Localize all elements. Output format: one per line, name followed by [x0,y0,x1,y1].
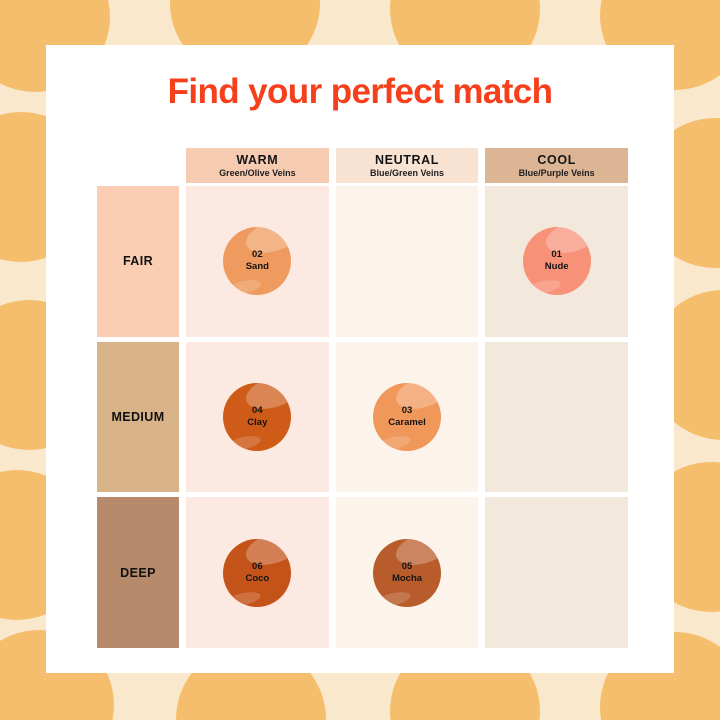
matrix-row-fair: FAIR02Sand01Nude [97,186,628,337]
content-card: Find your perfect match WARMGreen/Olive … [46,45,674,673]
column-header-cool[interactable]: COOLBlue/Purple Veins [485,148,628,183]
shade-name: Caramel [388,417,426,429]
shade-code: 02 [252,249,263,261]
matrix-cell-medium-neutral[interactable]: 03Caramel [336,342,479,493]
column-header-subtitle: Blue/Purple Veins [519,168,595,178]
column-header-title: WARM [236,153,278,167]
column-header-title: NEUTRAL [375,153,439,167]
shade-name: Mocha [392,573,422,585]
matrix-cell-fair-warm[interactable]: 02Sand [186,186,329,337]
page-title: Find your perfect match [46,72,674,112]
shade-code: 01 [551,249,562,261]
shade-swatch-mocha[interactable]: 05Mocha [373,539,441,607]
shade-name: Sand [246,261,269,273]
matrix-row-deep: DEEP06Coco05Mocha [97,497,628,648]
matrix-cell-deep-warm[interactable]: 06Coco [186,497,329,648]
matrix-cell-deep-cool[interactable] [485,497,628,648]
column-header-subtitle: Blue/Green Veins [370,168,444,178]
matrix-row-medium: MEDIUM04Clay03Caramel [97,342,628,493]
shade-swatch-clay[interactable]: 04Clay [223,383,291,451]
undertone-column-headers: WARMGreen/Olive VeinsNEUTRALBlue/Green V… [186,148,628,183]
poster-canvas: Find your perfect match WARMGreen/Olive … [0,0,720,720]
column-header-neutral[interactable]: NEUTRALBlue/Green Veins [336,148,479,183]
matrix-body: FAIR02Sand01NudeMEDIUM04Clay03CaramelDEE… [97,186,628,648]
shade-code: 04 [252,405,263,417]
shade-code: 03 [402,405,413,417]
shade-swatch-sand[interactable]: 02Sand [223,227,291,295]
matrix-cell-medium-warm[interactable]: 04Clay [186,342,329,493]
shade-code: 05 [402,561,413,573]
shade-swatch-nude[interactable]: 01Nude [523,227,591,295]
column-header-subtitle: Green/Olive Veins [219,168,296,178]
shade-name: Clay [247,417,267,429]
row-label-fair[interactable]: FAIR [97,186,179,337]
row-label-deep[interactable]: DEEP [97,497,179,648]
shade-name: Coco [245,573,269,585]
shade-code: 06 [252,561,263,573]
column-header-title: COOL [537,153,576,167]
column-header-warm[interactable]: WARMGreen/Olive Veins [186,148,329,183]
row-label-medium[interactable]: MEDIUM [97,342,179,493]
shade-name: Nude [545,261,569,273]
matrix-cell-fair-neutral[interactable] [336,186,479,337]
matrix-cell-medium-cool[interactable] [485,342,628,493]
shade-swatch-coco[interactable]: 06Coco [223,539,291,607]
shade-match-matrix: WARMGreen/Olive VeinsNEUTRALBlue/Green V… [97,148,628,648]
matrix-cell-deep-neutral[interactable]: 05Mocha [336,497,479,648]
matrix-cell-fair-cool[interactable]: 01Nude [485,186,628,337]
shade-swatch-caramel[interactable]: 03Caramel [373,383,441,451]
